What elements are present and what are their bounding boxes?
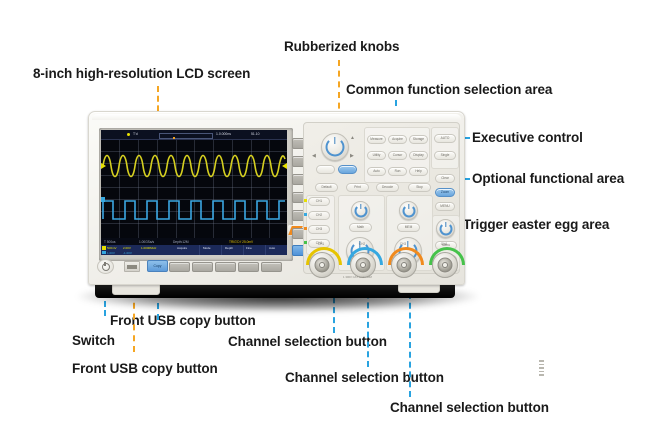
trigger-level-knob[interactable] bbox=[436, 219, 455, 238]
run-button[interactable]: Run bbox=[388, 167, 407, 176]
display-button[interactable]: Display bbox=[409, 151, 428, 160]
callout-label-chsel-1: Channel selection button bbox=[228, 334, 387, 349]
ch1-readout: 500mV bbox=[107, 246, 117, 250]
power-switch-button[interactable] bbox=[97, 259, 114, 274]
waveform-sine-yellow bbox=[103, 156, 285, 177]
stop-button[interactable]: Stop bbox=[408, 183, 431, 192]
softmenu-cell-2[interactable]: Depth bbox=[221, 245, 244, 255]
bnc-connector-ch3[interactable] bbox=[391, 252, 417, 278]
callout-label-optional: Optional functional area bbox=[472, 171, 624, 186]
trigger-menu-button[interactable]: MENU bbox=[435, 202, 455, 211]
waveform-square-blue bbox=[103, 201, 285, 219]
bottom-menu-button-3[interactable] bbox=[215, 262, 236, 272]
bnc-caption: 1 300V CAT I max 10M bbox=[343, 275, 372, 279]
callout-label-knobs: Rubberized knobs bbox=[284, 39, 399, 54]
waveform-area bbox=[101, 139, 287, 238]
callout-label-exec: Executive control bbox=[472, 130, 583, 145]
power-icon-stem bbox=[104, 262, 105, 266]
lcd-timebase: 1.0.000ns bbox=[216, 132, 231, 136]
oscilloscope-front-panel: T'd 1.0.000ns 51.10 bbox=[88, 111, 465, 285]
default-button[interactable]: Default bbox=[315, 183, 338, 192]
vertical-scale-knob-2[interactable] bbox=[399, 201, 418, 220]
bottom-menu-button-5[interactable] bbox=[261, 262, 282, 272]
vertical-scale-knob-1[interactable] bbox=[351, 201, 370, 220]
ch2-readout: 1.00V bbox=[107, 251, 115, 255]
softmenu-cell-3[interactable]: Fine bbox=[243, 245, 266, 255]
multipurpose-knob[interactable] bbox=[321, 133, 349, 161]
single-button[interactable]: Single bbox=[434, 151, 456, 160]
ch1-color-tag bbox=[304, 199, 307, 202]
lcd-trig-mode: T'd bbox=[133, 132, 138, 136]
status-depth: Depth:12M bbox=[173, 240, 189, 244]
softmenu-label-3: Fine bbox=[246, 246, 252, 250]
softmenu-label-1: Mode bbox=[203, 246, 211, 250]
softmenu-cell-1[interactable]: Mode bbox=[199, 245, 222, 255]
status-timebase: T 500us bbox=[104, 240, 115, 244]
ch1-offset: 2.00V bbox=[123, 246, 131, 250]
bottom-menu-button-1[interactable] bbox=[169, 262, 190, 272]
decode-button[interactable]: Decode bbox=[376, 183, 399, 192]
callout-label-lcd: 8-inch high-resolution LCD screen bbox=[33, 66, 250, 81]
power-icon bbox=[102, 263, 110, 271]
lcd-softmenu-bar: 500mV 2.00V 1.0000MHz 1.00V -1.00V Acqui… bbox=[101, 245, 287, 255]
storage-button[interactable]: Storage bbox=[409, 135, 428, 144]
status-trigger: TRIG'D f 25.0mV bbox=[229, 240, 253, 244]
mem-button[interactable]: MEM bbox=[397, 223, 420, 232]
callout-label-switch: Switch bbox=[72, 333, 115, 348]
ch2-marker-left bbox=[101, 197, 105, 202]
figure-canvas: 8-inch high-resolution LCD screen Rubber… bbox=[0, 0, 666, 441]
auto-scale-button[interactable]: AUTO bbox=[434, 134, 456, 143]
ch1-freq: 1.0000MHz bbox=[141, 246, 156, 250]
ch2-color-tag bbox=[304, 213, 307, 216]
help-button[interactable]: Help bbox=[409, 167, 428, 176]
softmenu-label-0: Acquire bbox=[177, 246, 187, 250]
run-indicator-dot bbox=[127, 133, 130, 136]
callout-label-chsel-2: Channel selection button bbox=[285, 370, 444, 385]
bnc-label-ch1: CH1 bbox=[306, 242, 336, 246]
bnc-connector-ch1[interactable] bbox=[309, 252, 335, 278]
channel-1-button[interactable]: CH1 bbox=[308, 197, 330, 206]
callout-label-usb-top: Front USB copy button bbox=[110, 313, 256, 328]
channel-2-button[interactable]: CH2 bbox=[308, 211, 330, 220]
measure-button[interactable]: Measure bbox=[367, 135, 386, 144]
status-samplerate: 1.00GSa/s bbox=[139, 240, 154, 244]
softmenu-label-2: Depth bbox=[225, 246, 233, 250]
bottom-menu-button-4[interactable] bbox=[238, 262, 259, 272]
zoom-button[interactable]: Zoom bbox=[435, 188, 455, 197]
bnc-connector-ch4[interactable] bbox=[432, 252, 458, 278]
ch2-badge bbox=[102, 251, 106, 255]
callout-label-usb-bottom: Front USB copy button bbox=[72, 361, 218, 376]
front-usb-copy-button[interactable]: Copy bbox=[147, 260, 168, 272]
utility-button[interactable]: Utility bbox=[367, 151, 386, 160]
bnc-label-ch2: CH2 bbox=[347, 242, 377, 246]
lcd-bezel: T'd 1.0.000ns 51.10 bbox=[99, 128, 293, 261]
callout-label-chsel-3: Channel selection button bbox=[390, 400, 549, 415]
lcd-sample: 51.10 bbox=[251, 132, 260, 136]
front-usb-port[interactable] bbox=[124, 261, 140, 272]
callout-label-trigger: Trigger easter egg area bbox=[463, 217, 609, 232]
softmenu-cell-0[interactable]: Acquire bbox=[173, 245, 200, 255]
softmenu-label-4: Auto bbox=[269, 246, 275, 250]
side-vent bbox=[539, 360, 544, 380]
math-button[interactable]: Math bbox=[349, 223, 372, 232]
acquire-button[interactable]: Acquire bbox=[388, 135, 407, 144]
lcd-statusbar: T 500us 1.00GSa/s Depth:12M TRIG'D f 25.… bbox=[101, 238, 287, 245]
bottom-menu-button-2[interactable] bbox=[192, 262, 213, 272]
ch2-offset: -1.00V bbox=[123, 251, 132, 255]
print-button[interactable]: Print bbox=[346, 183, 369, 192]
ch1-marker-right bbox=[282, 163, 287, 169]
bnc-label-ch3: CH3 bbox=[388, 242, 418, 246]
back-button[interactable] bbox=[316, 165, 335, 174]
menu-button[interactable] bbox=[338, 165, 357, 174]
cursor-button[interactable]: Cursor bbox=[388, 151, 407, 160]
bnc-label-ch4: CH4 bbox=[429, 242, 459, 246]
clear-button[interactable]: Clear bbox=[435, 174, 455, 183]
callout-label-common: Common function selection area bbox=[346, 82, 552, 97]
softmenu-cell-4[interactable]: Auto bbox=[265, 245, 287, 255]
lcd-screen: T'd 1.0.000ns 51.10 bbox=[101, 130, 287, 255]
channel-3-button[interactable]: CH3 bbox=[308, 225, 330, 234]
auto-button[interactable]: Auto bbox=[367, 167, 386, 176]
ch3-color-tag bbox=[304, 227, 307, 230]
ch1-badge bbox=[102, 246, 106, 250]
